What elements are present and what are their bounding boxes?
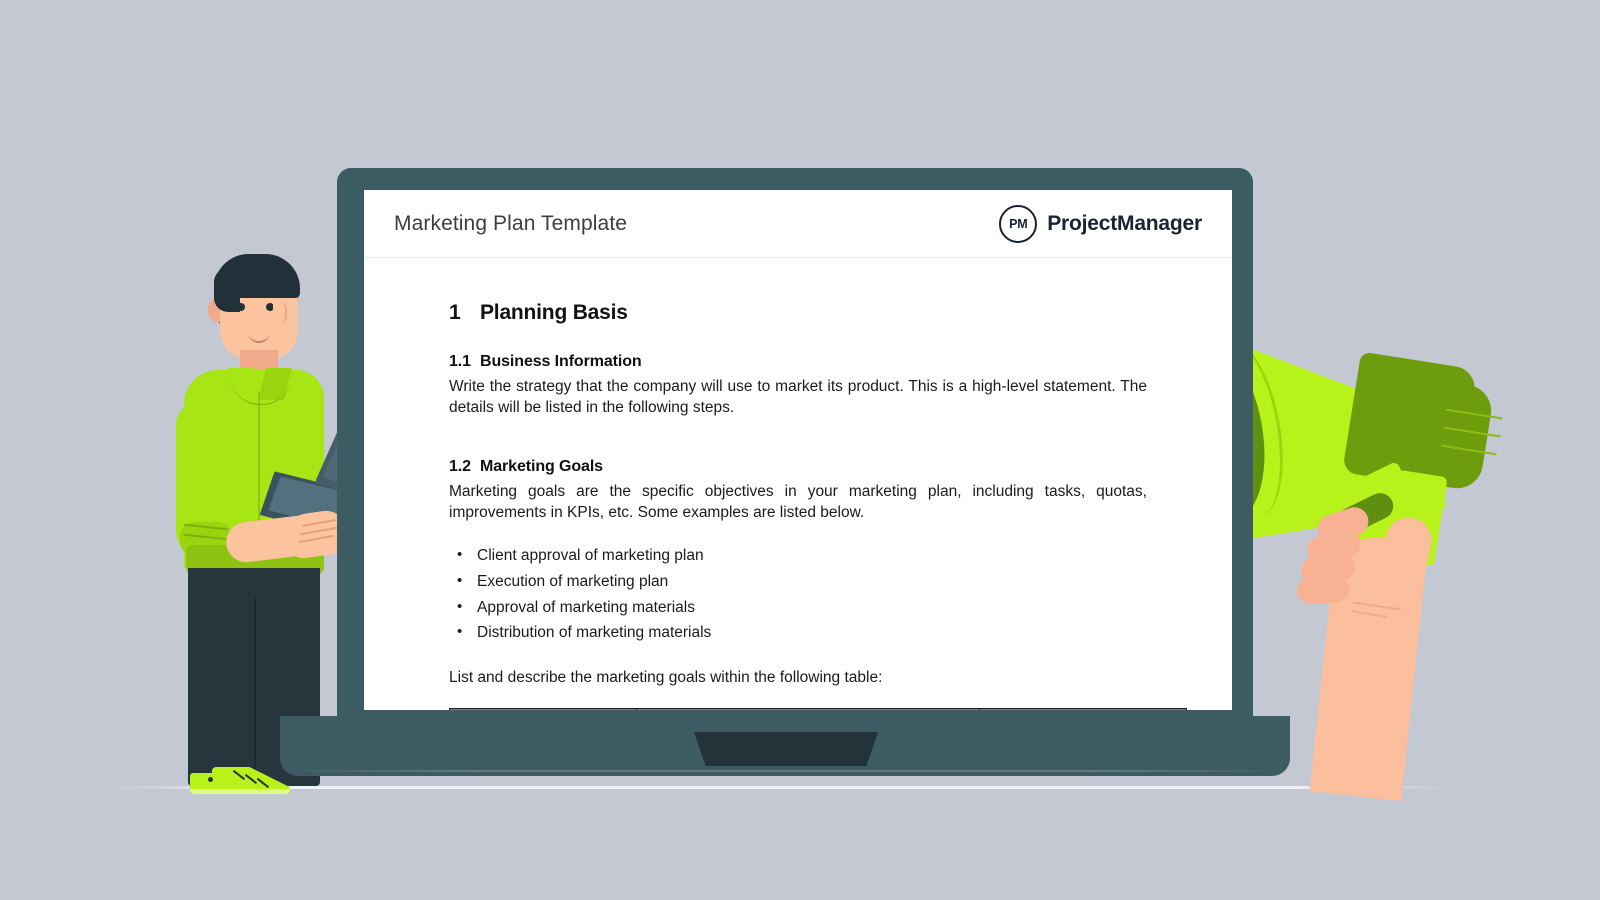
column-header-description: Description: [637, 709, 980, 710]
document-body: 1Planning Basis 1.1Business Information …: [364, 258, 1232, 710]
eye-left: [237, 303, 245, 311]
document-header: Marketing Plan Template PM ProjectManage…: [364, 190, 1232, 258]
marketing-goals-paragraph: Marketing goals are the specific objecti…: [449, 482, 1147, 523]
section-number-1-1: 1.1: [449, 353, 480, 371]
laptop-trackpad-notch: [688, 732, 884, 766]
table-lead-text: List and describe the marketing goals wi…: [449, 668, 1147, 689]
list-item: Client approval of marketing plan: [449, 546, 1147, 567]
section-number-1-2: 1.2: [449, 458, 480, 476]
list-item: Approval of marketing materials: [449, 598, 1147, 619]
business-information-paragraph: Write the strategy that the company will…: [449, 377, 1147, 418]
section-heading-1: 1Planning Basis: [449, 301, 1147, 325]
brand-name: ProjectManager: [1047, 212, 1202, 236]
column-header-goals: Goals: [450, 709, 637, 710]
column-header-target-date: Target Date: [980, 709, 1187, 710]
section-heading-1-2: 1.2Marketing Goals: [449, 458, 1147, 476]
shoe-sole: [190, 789, 290, 794]
shoe-eyelet: [208, 777, 213, 782]
list-item: Distribution of marketing materials: [449, 623, 1147, 644]
section-title-1-2: Marketing Goals: [480, 458, 603, 475]
list-item: Execution of marketing plan: [449, 572, 1147, 593]
pm-monogram-icon: PM: [999, 205, 1037, 243]
projectmanager-logo: PM ProjectManager: [999, 205, 1202, 243]
table-header-row: Goals Description Target Date: [450, 709, 1187, 710]
laptop-screen: Marketing Plan Template PM ProjectManage…: [364, 190, 1232, 710]
section-title-1-1: Business Information: [480, 353, 642, 370]
goals-table: Goals Description Target Date Client app…: [449, 708, 1187, 710]
laptop-base-highlight: [280, 770, 1290, 772]
illustration-scene: Marketing Plan Template PM ProjectManage…: [0, 0, 1600, 900]
section-title-1: Planning Basis: [480, 301, 628, 324]
pants-seam: [254, 598, 256, 783]
laptop: Marketing Plan Template PM ProjectManage…: [280, 160, 1320, 790]
section-heading-1-1: 1.1Business Information: [449, 353, 1147, 371]
section-number-1: 1: [449, 301, 480, 325]
document-title: Marketing Plan Template: [394, 212, 627, 236]
marketing-goals-list: Client approval of marketing plan Execut…: [449, 546, 1147, 643]
